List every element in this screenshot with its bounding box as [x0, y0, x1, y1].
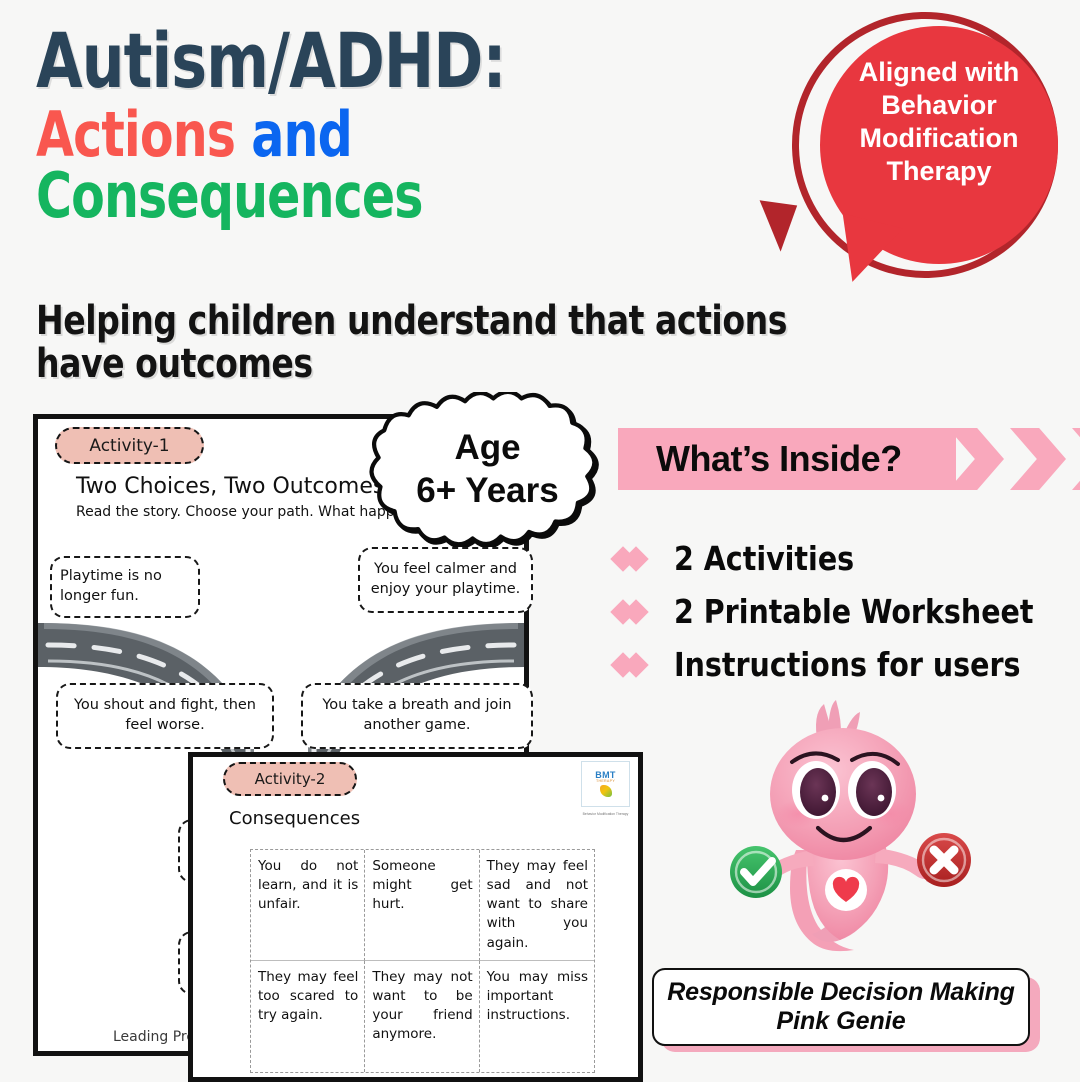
badge-line-2: Behavior	[820, 89, 1058, 122]
badge-box: Responsible Decision Making Pink Genie	[652, 968, 1030, 1046]
badge-line-3: Modification	[820, 122, 1058, 155]
responsible-decision-badge: Responsible Decision Making Pink Genie	[652, 968, 1040, 1052]
list-item-label: 2 Printable Worksheet	[674, 592, 1034, 631]
worksheet-1-heading: Two Choices, Two Outcomes	[76, 474, 384, 499]
title-line-3: Consequences	[36, 167, 617, 224]
table-cell: You do not learn, and it is unfair.	[251, 850, 365, 961]
bmt-therapy-logo: BMT THERAPY Behavior Modification Therap…	[581, 761, 630, 807]
title-block: Autism/ADHD: Actions and Consequences	[36, 26, 696, 224]
outcome-bubble-bottom-right: You take a breath and join another game.	[301, 683, 533, 749]
consequences-table: You do not learn, and it is unfair. Some…	[250, 849, 595, 1073]
worksheet-2-heading: Consequences	[229, 808, 360, 829]
list-item-label: 2 Activities	[674, 539, 854, 578]
worksheet-activity-2: Activity-2 BMT THERAPY Behavior Modifica…	[188, 752, 643, 1082]
whats-inside-title: What’s Inside?	[656, 428, 902, 490]
table-cell: They may feel too scared to try again.	[251, 961, 365, 1072]
check-badge-icon	[730, 846, 782, 898]
age-cloud-badge: Age 6+ Years	[345, 392, 630, 547]
aligned-badge: Aligned with Behavior Modification Thera…	[786, 8, 1076, 298]
poster-canvas: Autism/ADHD: Actions and Consequences He…	[0, 0, 1080, 1080]
list-item-label: Instructions for users	[674, 645, 1020, 684]
whats-inside-banner: What’s Inside?	[618, 428, 1080, 490]
footer-badge-line-1: Responsible Decision Making	[667, 978, 1014, 1007]
outcome-bubble-bottom-left: You shout and fight, then feel worse.	[56, 683, 274, 749]
table-cell: Someone might get hurt.	[365, 850, 479, 961]
footer-badge-line-2: Pink Genie	[776, 1007, 905, 1036]
activity-2-pill: Activity-2	[223, 762, 357, 796]
bmt-logo-caption: Behavior Modification Therapy	[582, 812, 629, 816]
whats-inside-list: 2 Activities 2 Printable Worksheet Instr…	[614, 532, 1080, 691]
chevron-right-icon	[948, 428, 1004, 490]
activity-1-pill: Activity-1	[55, 427, 204, 464]
age-text: Age 6+ Years	[345, 392, 630, 547]
title-line-1: Autism/ADHD:	[36, 26, 617, 96]
bmt-logo-subtitle: THERAPY	[596, 780, 615, 784]
heart-badge-icon	[825, 869, 867, 911]
double-diamond-icon	[614, 603, 654, 621]
list-item: Instructions for users	[614, 638, 1080, 691]
table-cell: They may feel sad and not want to share …	[480, 850, 594, 961]
list-item: 2 Printable Worksheet	[614, 585, 1080, 638]
badge-line-4: Therapy	[820, 155, 1058, 188]
badge-text: Aligned with Behavior Modification Thera…	[820, 56, 1058, 188]
double-diamond-icon	[614, 656, 654, 674]
pink-genie-character	[700, 700, 1000, 980]
table-cell: They may not want to be your friend anym…	[365, 961, 479, 1072]
outcome-bubble-top-left: Playtime is no longer fun.	[50, 556, 200, 618]
age-line-1: Age	[454, 427, 520, 470]
age-line-2: 6+ Years	[416, 470, 558, 513]
bmt-logo-mark-icon	[600, 785, 612, 797]
title-line-2: Actions and	[36, 106, 617, 163]
table-cell: You may miss important instructions.	[480, 961, 594, 1072]
list-item: 2 Activities	[614, 532, 1080, 585]
outcome-bubble-top-right: You feel calmer and enjoy your playtime.	[358, 547, 533, 613]
chevron-right-icon	[1072, 428, 1080, 490]
badge-line-1: Aligned with	[820, 56, 1058, 89]
subtitle: Helping children understand that actions…	[36, 300, 846, 386]
chevron-right-icon	[1010, 428, 1066, 490]
cross-badge-icon	[917, 833, 971, 887]
double-diamond-icon	[614, 550, 654, 568]
